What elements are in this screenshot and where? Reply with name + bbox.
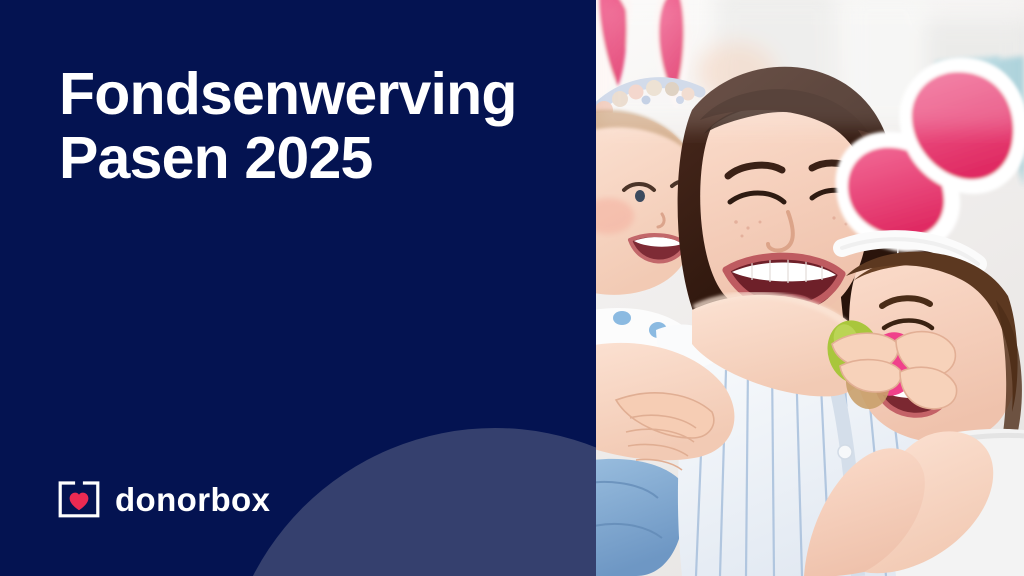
donorbox-wordmark: donorbox — [115, 483, 270, 516]
title-line-2: Pasen 2025 — [59, 126, 579, 190]
decorative-circle — [223, 428, 596, 576]
easter-fundraising-banner: Fondsenwerving Pasen 2025 donorbox — [0, 0, 1024, 576]
title-line-1: Fondsenwerving — [59, 62, 579, 126]
donation-box-heart-icon — [57, 477, 101, 521]
donorbox-logo[interactable]: donorbox — [57, 477, 270, 521]
page-title: Fondsenwerving Pasen 2025 — [59, 62, 579, 190]
hero-photo — [596, 0, 1024, 576]
